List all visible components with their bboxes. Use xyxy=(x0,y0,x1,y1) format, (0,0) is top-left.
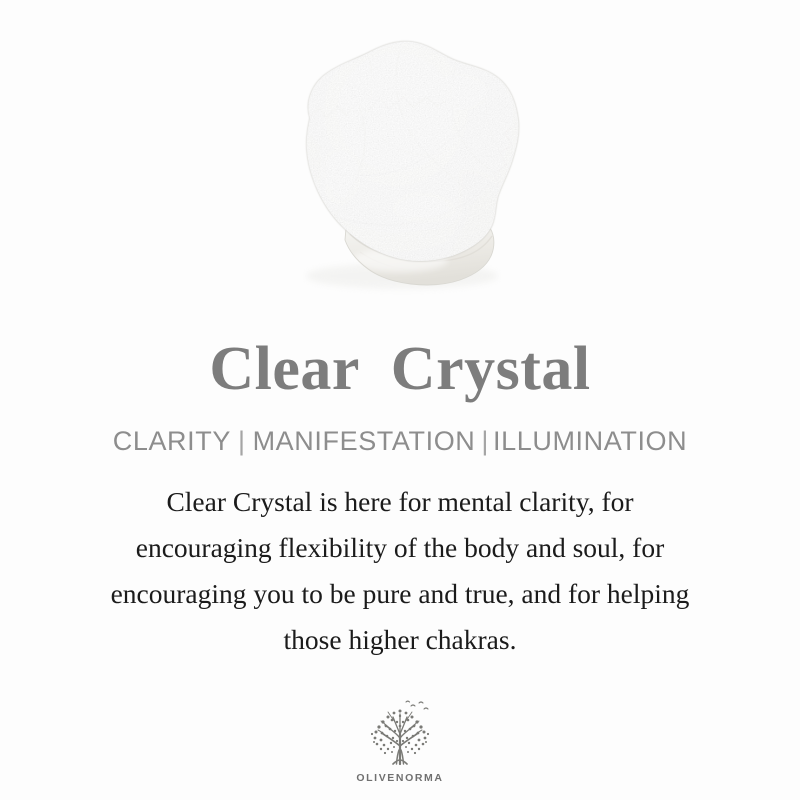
product-image-area xyxy=(0,0,800,320)
tree-of-life-icon xyxy=(363,698,437,770)
description-line: those higher chakras. xyxy=(40,617,760,663)
crystal-texture xyxy=(300,38,530,268)
keyword-clarity: CLARITY xyxy=(113,426,231,456)
keyword-separator-2: | xyxy=(475,426,493,456)
keyword-subtitle: CLARITY|MANIFESTATION|ILLUMINATION xyxy=(113,426,688,457)
description-line: encouraging flexibility of the body and … xyxy=(40,525,760,571)
brand-wordmark: OLIVENORMA xyxy=(356,772,443,784)
description-line: Clear Crystal is here for mental clarity… xyxy=(40,479,760,525)
keyword-manifestation: MANIFESTATION xyxy=(253,426,476,456)
description-line: encouraging you to be pure and true, and… xyxy=(40,571,760,617)
keyword-separator-1: | xyxy=(231,426,253,456)
crystal-body xyxy=(300,38,530,268)
page-title: Clear Crystal xyxy=(209,338,590,400)
birds-icon xyxy=(406,701,428,709)
product-info-card: Clear Crystal CLARITY|MANIFESTATION|ILLU… xyxy=(0,0,800,800)
keyword-illumination: ILLUMINATION xyxy=(493,426,687,456)
raw-clear-quartz-crystal-icon xyxy=(250,20,550,300)
product-description: Clear Crystal is here for mental clarity… xyxy=(40,479,760,663)
brand-logo: OLIVENORMA xyxy=(0,698,800,784)
